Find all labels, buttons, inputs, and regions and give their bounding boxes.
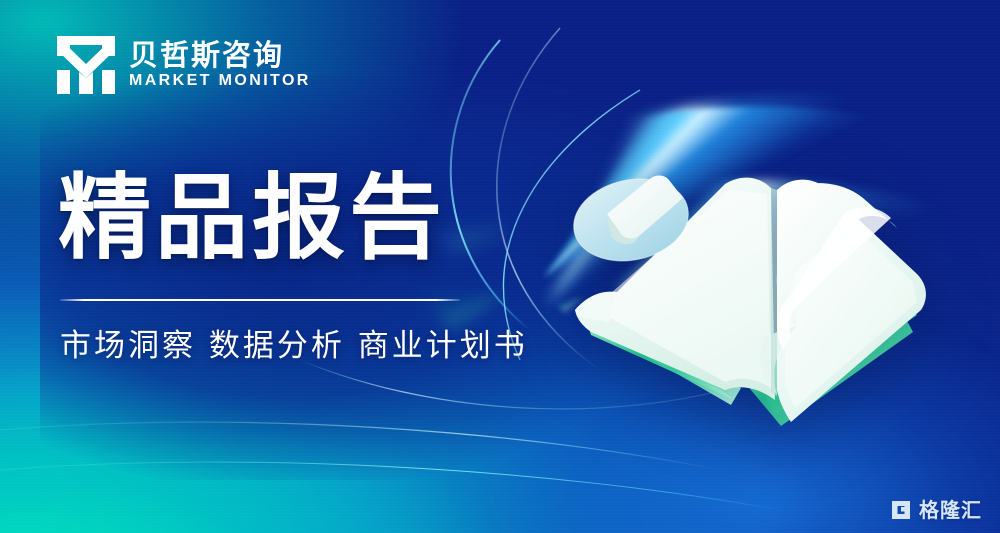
brand-logo-text: 贝哲斯咨询 MARKET MONITOR — [129, 40, 311, 90]
headline-subtitle: 市场洞察 数据分析 商业计划书 — [60, 329, 528, 363]
headline-block: 精品报告 市场洞察 数据分析 商业计划书 — [58, 172, 528, 363]
watermark-label: 格隆汇 — [919, 500, 982, 520]
page-title: 精品报告 — [58, 172, 528, 265]
report-banner: 贝哲斯咨询 MARKET MONITOR 精品报告 市场洞察 数据分析 商业计划… — [0, 0, 1000, 533]
watermark: 格隆汇 — [890, 499, 982, 521]
open-book-icon — [545, 150, 945, 450]
market-monitor-m-icon — [57, 36, 115, 94]
gelonghui-g-icon — [890, 499, 912, 521]
brand-name-cn: 贝哲斯咨询 — [129, 40, 311, 70]
brand-name-en: MARKET MONITOR — [129, 73, 311, 90]
brand-logo: 贝哲斯咨询 MARKET MONITOR — [57, 36, 311, 94]
headline-divider — [60, 299, 460, 301]
